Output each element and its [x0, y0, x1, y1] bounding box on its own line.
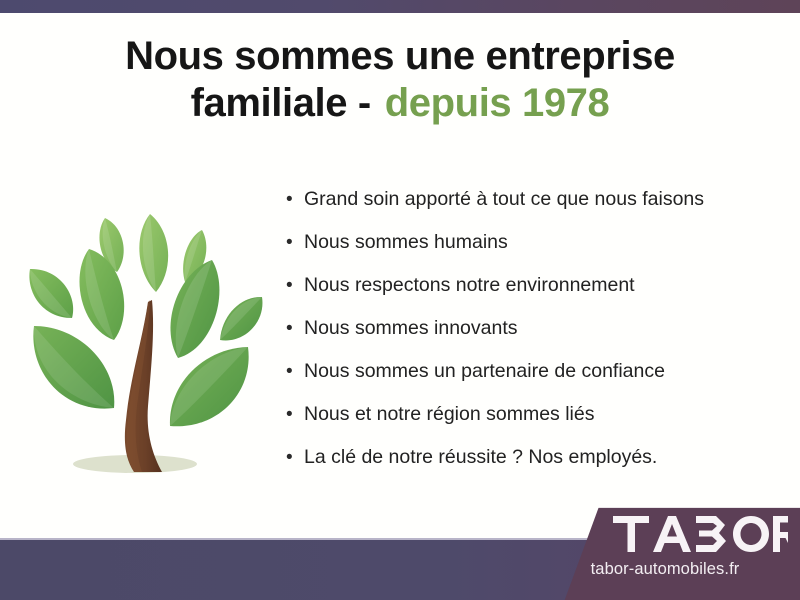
bullet-text: Nous sommes humains — [304, 233, 508, 253]
logo-website-url: tabor-automobiles.fr — [540, 560, 790, 579]
bullet-marker-icon: • — [286, 233, 304, 252]
bullet-marker-icon: • — [286, 190, 304, 209]
title-line-2-dark-text: familiale - — [191, 81, 371, 125]
tree-illustration — [22, 192, 270, 492]
tabor-logo-wordmark — [613, 514, 788, 554]
top-accent-bar — [0, 0, 800, 13]
tabor-logo-icon — [613, 514, 788, 554]
bullet-marker-icon: • — [286, 405, 304, 424]
bullet-marker-icon: • — [286, 362, 304, 381]
list-item: • Nous sommes un partenaire de confiance — [286, 362, 766, 405]
bullet-text: Nous respectons notre environnement — [304, 276, 635, 296]
tree-icon — [22, 192, 270, 492]
list-item: • Nous et notre région sommes liés — [286, 405, 766, 448]
bullet-text: Nous et notre région sommes liés — [304, 405, 594, 425]
title-line-2-green-text: depuis 1978 — [385, 81, 610, 125]
list-item: • Grand soin apporté à tout ce que nous … — [286, 190, 766, 233]
bullet-text: Nous sommes un partenaire de confiance — [304, 362, 665, 382]
title-line-1: Nous sommes une entreprise — [0, 34, 800, 79]
list-item: • La clé de notre réussite ? Nos employé… — [286, 448, 766, 491]
bullet-text: Nous sommes innovants — [304, 319, 518, 339]
slide-canvas: Nous sommes une entreprise familiale -de… — [0, 0, 800, 600]
page-title: Nous sommes une entreprise familiale -de… — [0, 34, 800, 126]
bullet-marker-icon: • — [286, 319, 304, 338]
list-item: • Nous respectons notre environnement — [286, 276, 766, 319]
bullet-marker-icon: • — [286, 276, 304, 295]
title-line-2: familiale -depuis 1978 — [0, 81, 800, 126]
title-line-1-text: Nous sommes une entreprise — [125, 34, 675, 78]
list-item: • Nous sommes humains — [286, 233, 766, 276]
bullet-text: La clé de notre réussite ? Nos employés. — [304, 448, 657, 468]
bullet-marker-icon: • — [286, 448, 304, 467]
list-item: • Nous sommes innovants — [286, 319, 766, 362]
bullet-list: • Grand soin apporté à tout ce que nous … — [286, 190, 766, 491]
bullet-text: Grand soin apporté à tout ce que nous fa… — [304, 190, 704, 210]
